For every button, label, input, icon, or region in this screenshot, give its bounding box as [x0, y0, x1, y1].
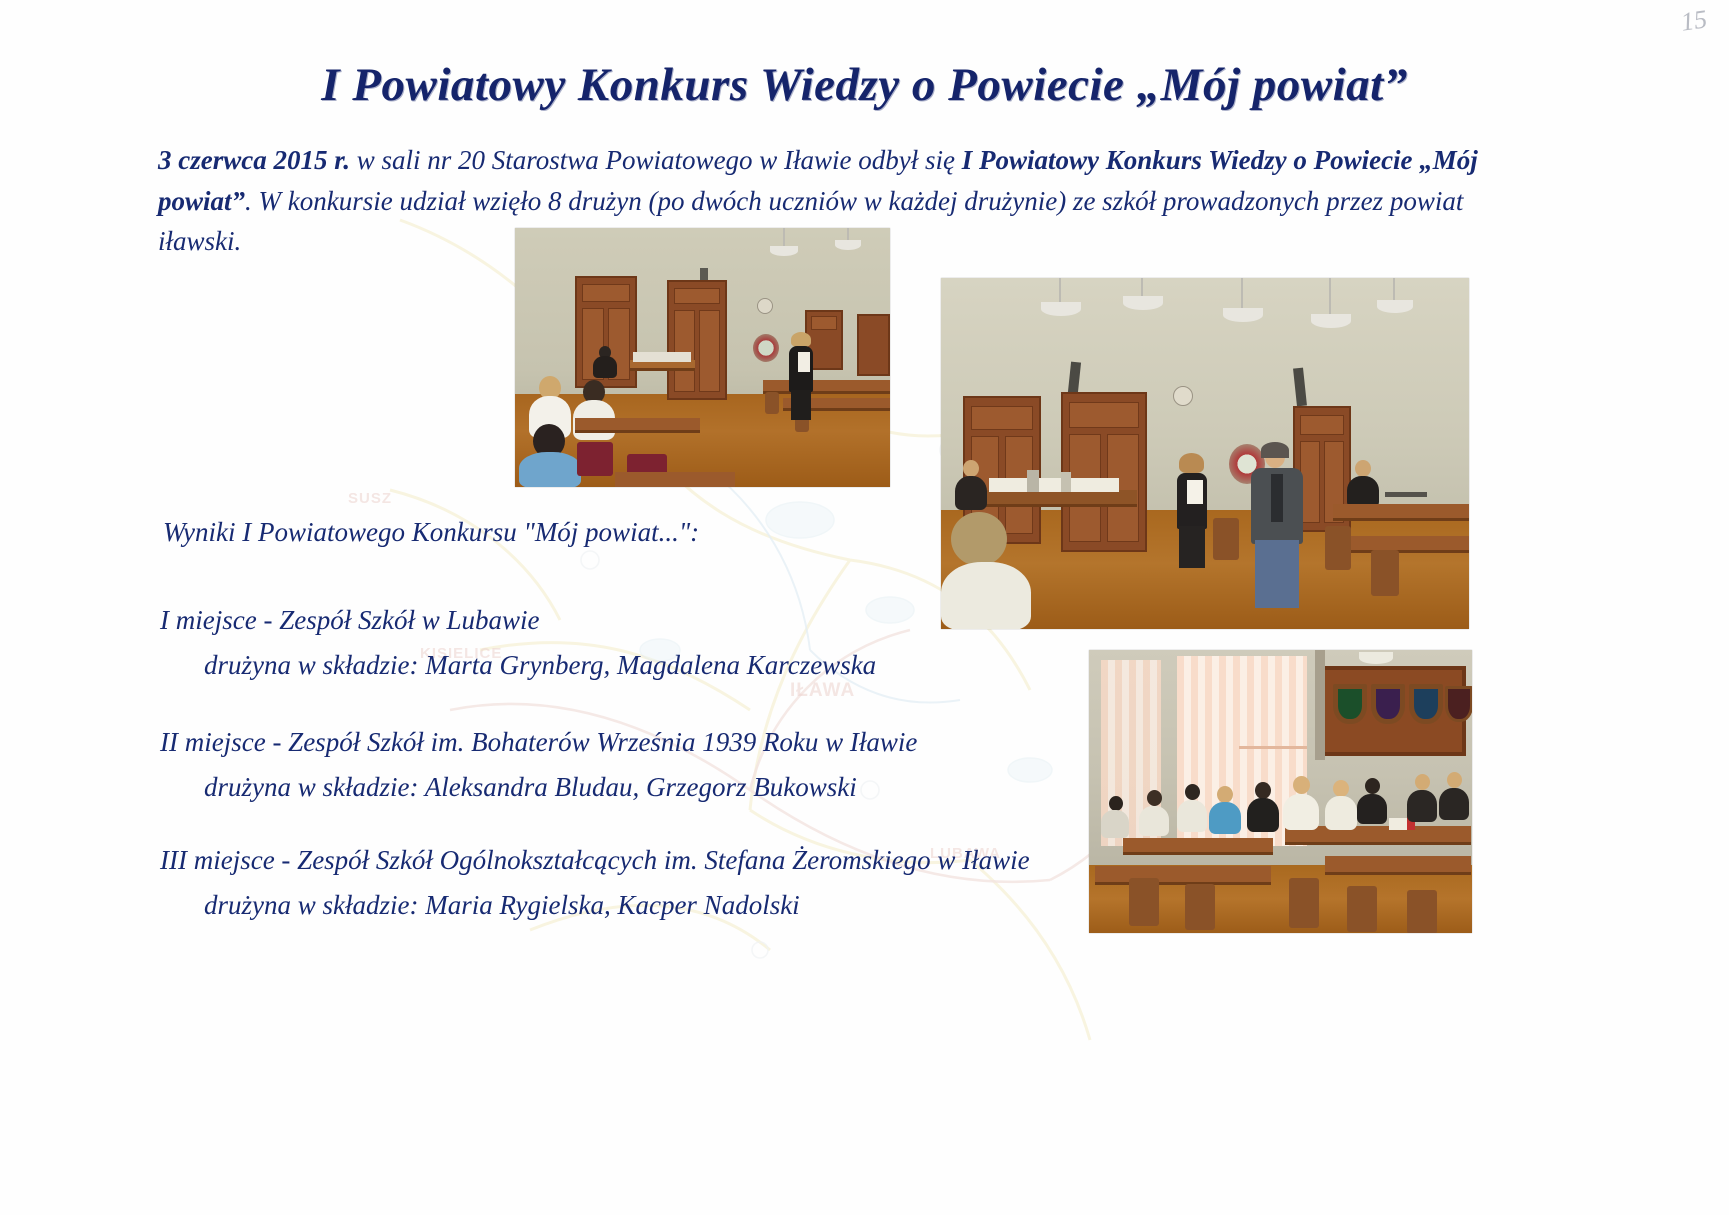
page-title: I Powiatowy Konkurs Wiedzy o Powiecie „M…: [0, 58, 1729, 112]
scanned-page: SUSZ KISIELICE IŁAWA LUBAWA 15 I Powiato…: [0, 0, 1729, 1215]
map-label-ilawa: IŁAWA: [790, 680, 855, 702]
result-place-2-title: II miejsce - Zespół Szkół im. Bohaterów …: [160, 727, 917, 757]
page-number-mark: 15: [1679, 4, 1709, 37]
result-place-3-team: drużyna w składzie: Maria Rygielska, Kac…: [204, 890, 1030, 921]
result-place-3: III miejsce - Zespół Szkół Ogólnokształc…: [160, 845, 1030, 921]
photo-conference-room-2: [941, 278, 1469, 629]
result-place-1: I miejsce - Zespół Szkół w Lubawie druży…: [160, 605, 876, 681]
results-heading: Wyniki I Powiatowego Konkursu "Mój powia…: [163, 517, 699, 548]
photo-students-under-crests: [1089, 650, 1472, 933]
result-place-1-team: drużyna w składzie: Marta Grynberg, Magd…: [204, 650, 876, 681]
map-label-susz: SUSZ: [348, 490, 392, 507]
result-place-2-team: drużyna w składzie: Aleksandra Bludau, G…: [204, 772, 917, 803]
result-place-3-title: III miejsce - Zespół Szkół Ogólnokształc…: [160, 845, 1030, 875]
result-place-1-title: I miejsce - Zespół Szkół w Lubawie: [160, 605, 539, 635]
intro-date: 3 czerwca 2015 r.: [158, 145, 350, 175]
result-place-2: II miejsce - Zespół Szkół im. Bohaterów …: [160, 727, 917, 803]
photo-conference-room-1: [515, 228, 890, 487]
intro-part1: w sali nr 20 Starostwa Powiatowego w Iła…: [350, 145, 962, 175]
